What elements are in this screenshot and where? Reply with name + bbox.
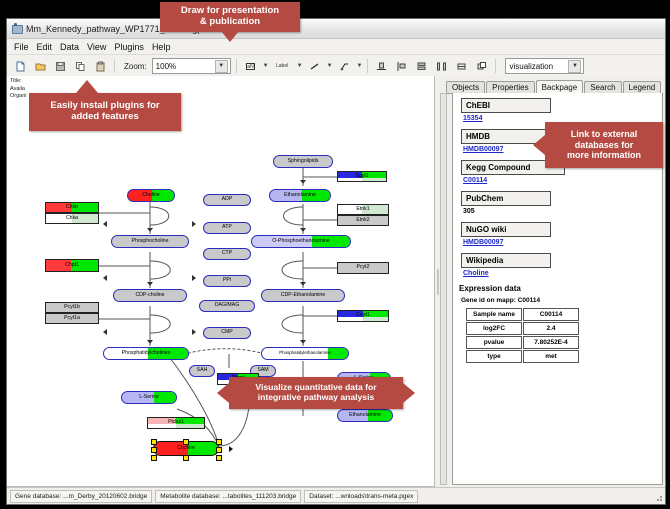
align-top-icon[interactable] <box>373 58 390 75</box>
node-label: DAG/MAG <box>215 303 240 308</box>
node-label: Phosphocholine <box>132 239 169 244</box>
node-label: Chka <box>66 216 78 221</box>
selection-handle[interactable] <box>151 455 157 461</box>
node-label: Phosphatidylethanolamine <box>279 351 331 355</box>
node-chpt1[interactable]: Chpt1 <box>45 259 99 272</box>
status-metabolite-database: Metabolite database: ...tabolites_111203… <box>155 490 301 503</box>
cell-value: met <box>523 350 579 363</box>
node-label: Chpt1 <box>65 263 79 268</box>
callout-visualize: Visualize quantitative data for integrat… <box>229 377 403 409</box>
db-link-kegg[interactable]: C00114 <box>463 177 662 184</box>
gene-id-line: Gene id on mapp: C00114 <box>461 297 662 304</box>
node-label: Pcyt2 <box>357 265 370 270</box>
callout-visualize-pointer <box>217 383 229 403</box>
node-ethanolamine-right[interactable]: Ethanolamine <box>337 409 393 422</box>
status-gene-database: Gene database: ...m_Derby_20120602.bridg… <box>10 490 152 503</box>
node-label: Pcyt1b <box>64 305 80 310</box>
datanode-icon[interactable]: aN <box>242 58 259 75</box>
db-header-chebi: ChEBI <box>461 98 551 113</box>
screenshot-root: Mm_Kennedy_pathway_WP1771_45176.gpml Fil… <box>0 0 670 509</box>
arrow-right-icon <box>192 221 196 227</box>
node-ethanolamine[interactable]: Ethanolamine <box>269 189 331 202</box>
datanode-dropdown-icon[interactable]: ▼ <box>263 63 269 69</box>
selection-handle[interactable] <box>183 439 189 445</box>
save-file-icon[interactable] <box>52 58 69 75</box>
menu-data[interactable]: Data <box>60 42 79 52</box>
callout-links: Link to external databases for more info… <box>545 122 663 168</box>
db-link-nugo[interactable]: HMDB00097 <box>463 239 662 246</box>
db-header-nugo: NuGO wiki <box>461 222 551 237</box>
expression-table: Sample name C00114 log2FC 2.4 pvalue 7.8… <box>465 307 580 364</box>
node-label: Sgpl1 <box>355 174 368 179</box>
node-label: SAM <box>257 368 268 373</box>
selection-handle[interactable] <box>216 447 222 453</box>
node-choline-top[interactable]: Choline <box>127 189 175 202</box>
arrow-down-icon <box>147 340 153 344</box>
db-link-chebi[interactable]: 15354 <box>463 115 662 122</box>
table-row: Sample name C00114 <box>466 308 579 321</box>
new-file-icon[interactable] <box>12 58 29 75</box>
callout-draw-pointer <box>221 31 239 42</box>
line-dropdown-icon[interactable]: ▼ <box>327 63 333 69</box>
node-cdp-choline[interactable]: CDP-choline <box>113 289 187 302</box>
visualization-combo[interactable]: visualization ▼ <box>505 58 584 74</box>
expression-heading: Expression data <box>459 284 662 293</box>
menu-view[interactable]: View <box>87 42 106 52</box>
node-label: O-Phosphoethanolamine <box>272 239 329 244</box>
callout-plugins: Easily install plugins for added feature… <box>29 93 181 131</box>
menu-file[interactable]: File <box>14 42 29 52</box>
arrow-down-icon <box>300 228 306 232</box>
node-label: Sphingolipids <box>288 159 319 164</box>
callout-plugins-text: Easily install plugins for added feature… <box>50 101 159 123</box>
node-cmp[interactable]: CMP <box>203 327 251 339</box>
node-pcyt2[interactable]: Pcyt2 <box>337 262 389 274</box>
node-pcyt1b[interactable]: Pcyt1b <box>45 302 99 313</box>
stack-icon[interactable] <box>413 58 430 75</box>
arrow-right-icon <box>192 329 196 335</box>
arrow-left-icon <box>103 221 107 227</box>
toolbar-separator <box>114 59 115 73</box>
node-label: L-Serine <box>139 395 159 400</box>
cell-value: 2.4 <box>523 322 579 335</box>
node-label: PPi <box>223 278 231 283</box>
node-phosphatidylethanolamine[interactable]: Phosphatidylethanolamine <box>261 347 349 360</box>
status-bar: Gene database: ...m_Derby_20120602.bridg… <box>7 487 665 504</box>
svg-text:aN: aN <box>247 64 254 70</box>
open-file-icon[interactable] <box>32 58 49 75</box>
toolbar-separator <box>367 59 368 73</box>
arrow-down-icon <box>147 228 153 232</box>
selection-handle[interactable] <box>216 455 222 461</box>
node-ppi[interactable]: PPi <box>203 275 251 287</box>
arrow-down-icon <box>300 340 306 344</box>
node-cdp-ethanolamine[interactable]: CDP-Ethanolamine <box>261 289 345 302</box>
line-icon[interactable] <box>306 58 323 75</box>
node-label: Pcyt1a <box>64 316 80 321</box>
backpage-scrollbar[interactable] <box>440 93 447 485</box>
node-label: Phosphatidylcholines <box>122 351 171 356</box>
selection-handle[interactable] <box>151 447 157 453</box>
callout-draw-text: Draw for presentation & publication <box>181 6 279 28</box>
node-label: CDP-Ethanolamine <box>281 293 325 298</box>
node-label: Chkb <box>66 205 78 210</box>
node-cept1[interactable]: Cept1 <box>337 310 389 322</box>
chevron-down-icon[interactable]: ▼ <box>568 60 581 73</box>
arrow-left-icon <box>103 329 107 335</box>
node-label: Choline <box>177 446 195 451</box>
node-label: ATP <box>222 225 232 230</box>
toolbar-separator <box>495 59 496 73</box>
chevron-down-icon[interactable]: ▼ <box>215 60 228 73</box>
arrow-right-icon <box>229 446 233 452</box>
copy-icon[interactable] <box>72 58 89 75</box>
title-bar: Mm_Kennedy_pathway_WP1771_45176.gpml <box>7 19 665 39</box>
toolbar: Zoom: 100% ▼ aN ▼ Label ▼ ▼ ▼ <box>7 55 665 78</box>
expression-half-up <box>328 348 348 359</box>
interaction-icon[interactable] <box>336 58 353 75</box>
node-label: Ethanolamine <box>349 413 381 418</box>
node-o-phosphoethanolamine[interactable]: O-Phosphoethanolamine <box>251 235 351 248</box>
resize-grip-icon[interactable] <box>654 493 663 502</box>
node-label: Cept1 <box>356 313 370 318</box>
node-sgpl1[interactable]: Sgpl1 <box>337 171 387 182</box>
tab-backpage[interactable]: Backpage <box>536 80 584 94</box>
node-phosphatidylcholines[interactable]: Phosphatidylcholines <box>103 347 189 360</box>
node-label: CMP <box>221 330 233 335</box>
selection-handle[interactable] <box>183 455 189 461</box>
distribute-icon[interactable] <box>433 58 450 75</box>
toolbar-separator <box>236 59 237 73</box>
node-etnk1[interactable]: Etnk1 <box>337 204 389 215</box>
visualization-value: visualization <box>509 62 553 71</box>
cell-key: type <box>466 350 522 363</box>
selection-handle[interactable] <box>151 439 157 445</box>
node-label: ADP <box>222 197 233 202</box>
label-icon[interactable]: Label <box>272 58 293 75</box>
menu-help[interactable]: Help <box>152 42 171 52</box>
label-dropdown-icon[interactable]: ▼ <box>297 63 303 69</box>
side-tabs: Objects Properties Backpage Search Legen… <box>446 80 663 94</box>
arrow-down-icon <box>300 282 306 286</box>
cell-key: pvalue <box>466 336 522 349</box>
db-value-pubchem: 305 <box>463 208 662 215</box>
arrow-left-icon <box>103 275 107 281</box>
tab-objects[interactable]: Objects <box>446 81 485 93</box>
paste-icon[interactable] <box>92 58 109 75</box>
label-text: Label <box>276 63 288 69</box>
cell-value: C00114 <box>523 308 579 321</box>
callout-visualize-text: Visualize quantitative data for integrat… <box>255 383 376 403</box>
table-row: type met <box>466 350 579 363</box>
node-dagmag[interactable]: DAG/MAG <box>199 300 255 312</box>
node-adp[interactable]: ADP <box>203 194 251 206</box>
cell-key: Sample name <box>466 308 522 321</box>
arrow-down-icon <box>147 282 153 286</box>
node-chkb[interactable]: Chkb <box>45 202 99 213</box>
tab-properties[interactable]: Properties <box>486 81 534 93</box>
bring-front-icon[interactable] <box>473 58 490 75</box>
db-header-pubchem: PubChem <box>461 191 551 206</box>
node-chka[interactable]: Chka <box>45 213 99 224</box>
callout-links-text: Link to external databases for more info… <box>567 129 641 160</box>
callout-visualize-pointer-right <box>403 383 415 403</box>
cell-key: log2FC <box>466 322 522 335</box>
callout-plugins-pointer <box>76 80 98 93</box>
node-phosphocholine[interactable]: Phosphocholine <box>111 235 189 248</box>
table-row: pvalue 7.80252E-4 <box>466 336 579 349</box>
tab-legend[interactable]: Legend <box>623 81 662 93</box>
node-label: Ethanolamine <box>284 193 316 198</box>
align-left-icon[interactable] <box>393 58 410 75</box>
app-icon <box>11 23 22 34</box>
menu-plugins[interactable]: Plugins <box>114 42 144 52</box>
menu-bar: File Edit Data View Plugins Help <box>7 39 665 55</box>
node-atp[interactable]: ATP <box>203 222 251 234</box>
node-label: Choline <box>142 193 160 198</box>
zoom-value: 100% <box>156 62 176 71</box>
node-ctp[interactable]: CTP <box>203 248 251 260</box>
node-label: Etnk1 <box>356 207 369 212</box>
status-dataset: Dataset: ...wnloads\trans-meta.pgex <box>304 490 418 503</box>
node-sphingolipids[interactable]: Sphingolipids <box>273 155 333 168</box>
callout-links-pointer <box>533 135 545 155</box>
zoom-combo[interactable]: 100% ▼ <box>152 58 231 74</box>
selection-handle[interactable] <box>216 439 222 445</box>
tab-search[interactable]: Search <box>584 81 621 93</box>
pathway-canvas[interactable]: Title: Availa Organi <box>7 76 435 487</box>
menu-edit[interactable]: Edit <box>37 42 53 52</box>
arrow-down-icon <box>300 180 306 184</box>
pathvisio-window: Mm_Kennedy_pathway_WP1771_45176.gpml Fil… <box>6 18 666 505</box>
node-ptdss1[interactable]: Ptdss1 <box>147 417 205 429</box>
db-header-wikipedia: Wikipedia <box>461 253 551 268</box>
zoom-label: Zoom: <box>124 62 147 71</box>
node-sah[interactable]: SAH <box>189 365 215 377</box>
db-link-wikipedia[interactable]: Choline <box>463 270 662 277</box>
same-width-icon[interactable] <box>453 58 470 75</box>
cell-value: 7.80252E-4 <box>523 336 579 349</box>
node-label: Ptdss1 <box>168 420 184 425</box>
node-label: CTP <box>222 251 232 256</box>
node-label: Etnk2 <box>356 218 369 223</box>
interaction-dropdown-icon[interactable]: ▼ <box>357 63 363 69</box>
node-pcyt1a[interactable]: Pcyt1a <box>45 313 99 324</box>
table-row: log2FC 2.4 <box>466 322 579 335</box>
node-label: CDP-choline <box>135 293 164 298</box>
arrow-right-icon <box>192 275 196 281</box>
callout-draw: Draw for presentation & publication <box>160 2 300 32</box>
node-l-serine-left[interactable]: L-Serine <box>121 391 177 404</box>
node-label: SAH <box>197 368 208 373</box>
node-etnk2[interactable]: Etnk2 <box>337 215 389 226</box>
